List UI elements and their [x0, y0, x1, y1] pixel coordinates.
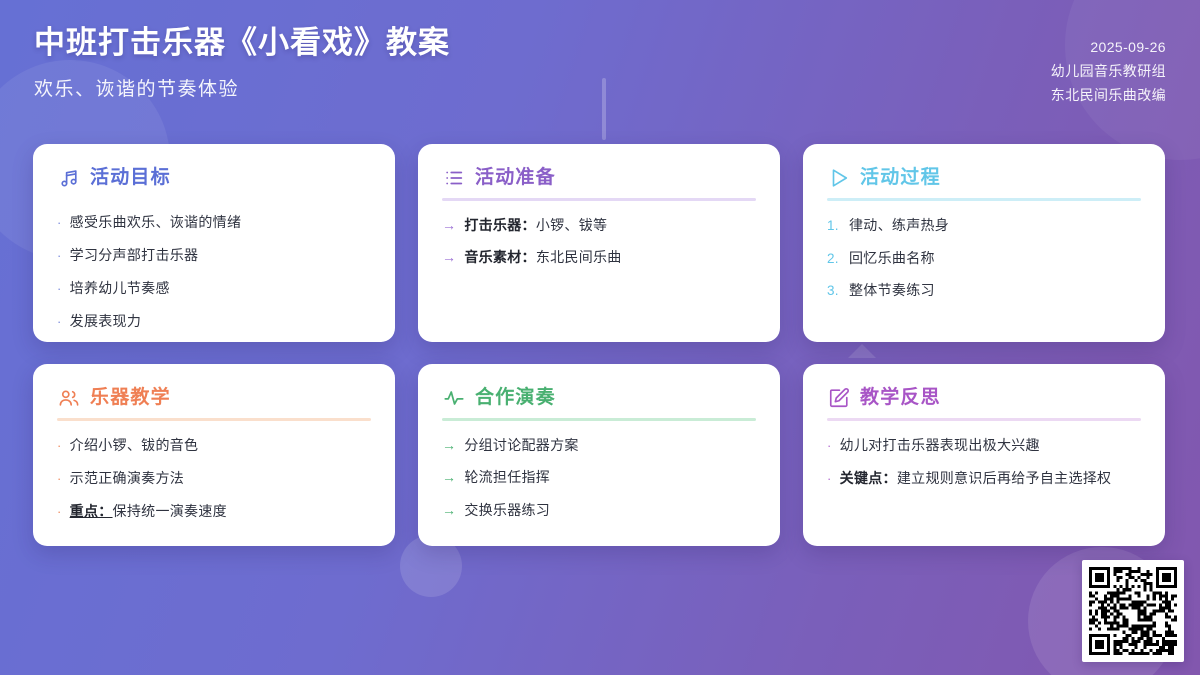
card-body: · 感受乐曲欢乐、诙谐的情绪 · 学习分声部打击乐器 · 培养幼儿节奏感 · 发…: [57, 212, 371, 331]
page-title: 中班打击乐器《小看戏》教案: [34, 24, 450, 63]
music-note-icon: [57, 166, 80, 189]
list-item: → 轮流担任指挥: [442, 467, 756, 487]
item-value: 保持统一演奏速度: [113, 503, 227, 519]
list-item-text: 音乐素材：东北民间乐曲: [464, 247, 756, 267]
card-header: 教学反思: [827, 386, 1141, 418]
list-item-text: 培养幼儿节奏感: [70, 278, 371, 298]
arrow-marker: →: [442, 435, 456, 455]
item-emphasis: 重点：: [70, 503, 113, 519]
item-label: 打击乐器：: [464, 217, 536, 233]
card-body: · 幼儿对打击乐器表现出极大兴趣 · 关键点：建立规则意识后再给予自主选择权: [827, 435, 1141, 489]
card-header: 乐器教学: [57, 386, 371, 418]
qr-code[interactable]: [1082, 560, 1184, 662]
bullet-marker: ·: [57, 313, 62, 332]
activity-icon: [442, 386, 465, 409]
list-item: · 发展表现力: [57, 311, 371, 332]
card-title: 活动过程: [860, 168, 941, 187]
play-icon: [827, 166, 850, 189]
card-instrument-teaching[interactable]: 乐器教学 · 介绍小锣、钹的音色 · 示范正确演奏方法 · 重点：保持统一演奏速…: [33, 364, 395, 546]
list-item-text: 关键点：建立规则意识后再给予自主选择权: [840, 468, 1141, 488]
list-item: · 幼儿对打击乐器表现出极大兴趣: [827, 435, 1141, 456]
card-body: → 分组讨论配器方案 → 轮流担任指挥 → 交换乐器练习: [442, 435, 756, 520]
bullet-marker: ·: [57, 214, 62, 233]
list-item: · 示范正确演奏方法: [57, 468, 371, 489]
bullet-marker: ·: [57, 247, 62, 266]
card-underline: [442, 418, 756, 421]
list-item: → 打击乐器：小锣、钹等: [442, 215, 756, 235]
card-underline: [827, 418, 1141, 421]
list-item: 3. 整体节奏练习: [827, 280, 1141, 301]
item-value: 东北民间乐曲: [536, 249, 622, 265]
list-item-text: 幼儿对打击乐器表现出极大兴趣: [840, 435, 1141, 455]
card-objectives[interactable]: 活动目标 · 感受乐曲欢乐、诙谐的情绪 · 学习分声部打击乐器 · 培养幼儿节奏…: [33, 144, 395, 342]
list-item: · 学习分声部打击乐器: [57, 245, 371, 266]
list-item: · 感受乐曲欢乐、诙谐的情绪: [57, 212, 371, 233]
ordinal-marker: 1.: [827, 216, 841, 236]
list-item-text: 重点：保持统一演奏速度: [70, 501, 371, 521]
bullet-marker: ·: [57, 280, 62, 299]
list-item-text: 轮流担任指挥: [464, 467, 756, 487]
slide-header: 中班打击乐器《小看戏》教案 欢乐、诙谐的节奏体验 2025-09-26 幼儿园音…: [0, 0, 1200, 132]
list-item: · 介绍小锣、钹的音色: [57, 435, 371, 456]
users-icon: [57, 386, 80, 409]
card-title: 活动准备: [475, 168, 556, 187]
item-value: 建立规则意识后再给予自主选择权: [897, 470, 1112, 486]
list-item-text: 发展表现力: [70, 311, 371, 331]
header-date: 2025-09-26: [1090, 35, 1166, 59]
card-header: 活动目标: [57, 166, 371, 198]
list-item-text: 学习分声部打击乐器: [70, 245, 371, 265]
card-header: 活动过程: [827, 166, 1141, 198]
card-underline: [442, 198, 756, 201]
card-title: 乐器教学: [90, 388, 171, 407]
card-underline: [57, 418, 371, 421]
list-item: 1. 律动、练声热身: [827, 215, 1141, 236]
arrow-marker: →: [442, 467, 456, 487]
arrow-marker: →: [442, 215, 456, 235]
list-item-text: 律动、练声热身: [849, 215, 1141, 235]
list-item-text: 分组讨论配器方案: [464, 435, 756, 455]
card-body: 1. 律动、练声热身 2. 回忆乐曲名称 3. 整体节奏练习: [827, 215, 1141, 301]
card-reflection[interactable]: 教学反思 · 幼儿对打击乐器表现出极大兴趣 · 关键点：建立规则意识后再给予自主…: [803, 364, 1165, 546]
card-preparation[interactable]: 活动准备 → 打击乐器：小锣、钹等 → 音乐素材：东北民间乐曲: [418, 144, 780, 342]
item-label: 音乐素材：: [464, 249, 536, 265]
qr-code-image: [1089, 567, 1177, 655]
header-meta-block: 2025-09-26 幼儿园音乐教研组 东北民间乐曲改编: [1051, 24, 1166, 107]
header-title-block: 中班打击乐器《小看戏》教案 欢乐、诙谐的节奏体验: [34, 24, 450, 101]
card-title: 合作演奏: [475, 388, 556, 407]
ordinal-marker: 2.: [827, 249, 841, 269]
bullet-marker: ·: [827, 437, 832, 456]
list-item-text: 打击乐器：小锣、钹等: [464, 215, 756, 235]
list-item: → 音乐素材：东北民间乐曲: [442, 247, 756, 267]
card-process[interactable]: 活动过程 1. 律动、练声热身 2. 回忆乐曲名称 3. 整体节奏练习: [803, 144, 1165, 342]
edit-square-icon: [827, 386, 850, 409]
list-item: · 关键点：建立规则意识后再给予自主选择权: [827, 468, 1141, 489]
list-item: · 重点：保持统一演奏速度: [57, 501, 371, 522]
list-item-text: 交换乐器练习: [464, 500, 756, 520]
item-label: 关键点：: [840, 470, 897, 486]
item-value: 小锣、钹等: [536, 217, 608, 233]
list-item: → 分组讨论配器方案: [442, 435, 756, 455]
ordinal-marker: 3.: [827, 281, 841, 301]
list-item-text: 介绍小锣、钹的音色: [70, 435, 371, 455]
slide-canvas: 中班打击乐器《小看戏》教案 欢乐、诙谐的节奏体验 2025-09-26 幼儿园音…: [0, 0, 1200, 675]
card-grid: 活动目标 · 感受乐曲欢乐、诙谐的情绪 · 学习分声部打击乐器 · 培养幼儿节奏…: [33, 144, 1167, 546]
list-item-text: 回忆乐曲名称: [849, 248, 1141, 268]
bullet-marker: ·: [57, 437, 62, 456]
card-header: 活动准备: [442, 166, 756, 198]
card-ensemble[interactable]: 合作演奏 → 分组讨论配器方案 → 轮流担任指挥 → 交换乐器练习: [418, 364, 780, 546]
list-item: · 培养幼儿节奏感: [57, 278, 371, 299]
list-item-text: 示范正确演奏方法: [70, 468, 371, 488]
bullet-marker: ·: [57, 470, 62, 489]
arrow-marker: →: [442, 500, 456, 520]
card-body: · 介绍小锣、钹的音色 · 示范正确演奏方法 · 重点：保持统一演奏速度: [57, 435, 371, 522]
card-header: 合作演奏: [442, 386, 756, 418]
page-subtitle: 欢乐、诙谐的节奏体验: [34, 74, 450, 101]
list-item: → 交换乐器练习: [442, 500, 756, 520]
list-item: 2. 回忆乐曲名称: [827, 248, 1141, 269]
card-title: 教学反思: [860, 388, 941, 407]
header-source: 东北民间乐曲改编: [1051, 83, 1166, 107]
card-underline: [827, 198, 1141, 201]
list-item-text: 感受乐曲欢乐、诙谐的情绪: [70, 212, 371, 232]
list-item-text: 整体节奏练习: [849, 280, 1141, 300]
bullet-marker: ·: [827, 470, 832, 489]
arrow-marker: →: [442, 247, 456, 267]
bullet-marker: ·: [57, 503, 62, 522]
card-title: 活动目标: [90, 168, 171, 187]
card-body: → 打击乐器：小锣、钹等 → 音乐素材：东北民间乐曲: [442, 215, 756, 268]
header-org: 幼儿园音乐教研组: [1051, 59, 1166, 83]
list-icon: [442, 166, 465, 189]
